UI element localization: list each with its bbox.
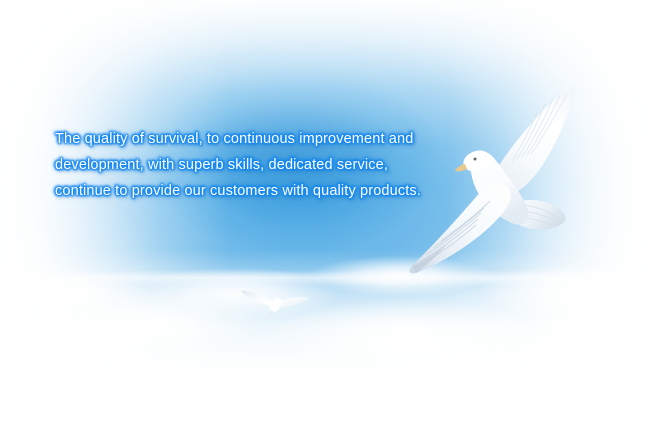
headline-line-2: development, with superb skills, dedicat…: [55, 152, 475, 178]
headline-line-3: continue to provide our customers with q…: [55, 178, 475, 204]
headline-text-block: The quality of survival, to continuous i…: [55, 126, 475, 204]
seagull-small: [240, 284, 310, 322]
headline-line-1: The quality of survival, to continuous i…: [55, 126, 475, 152]
sky-banner: The quality of survival, to continuous i…: [0, 0, 657, 437]
seagull-small-left-wing: [241, 290, 274, 306]
seagull-small-head: [274, 298, 283, 305]
